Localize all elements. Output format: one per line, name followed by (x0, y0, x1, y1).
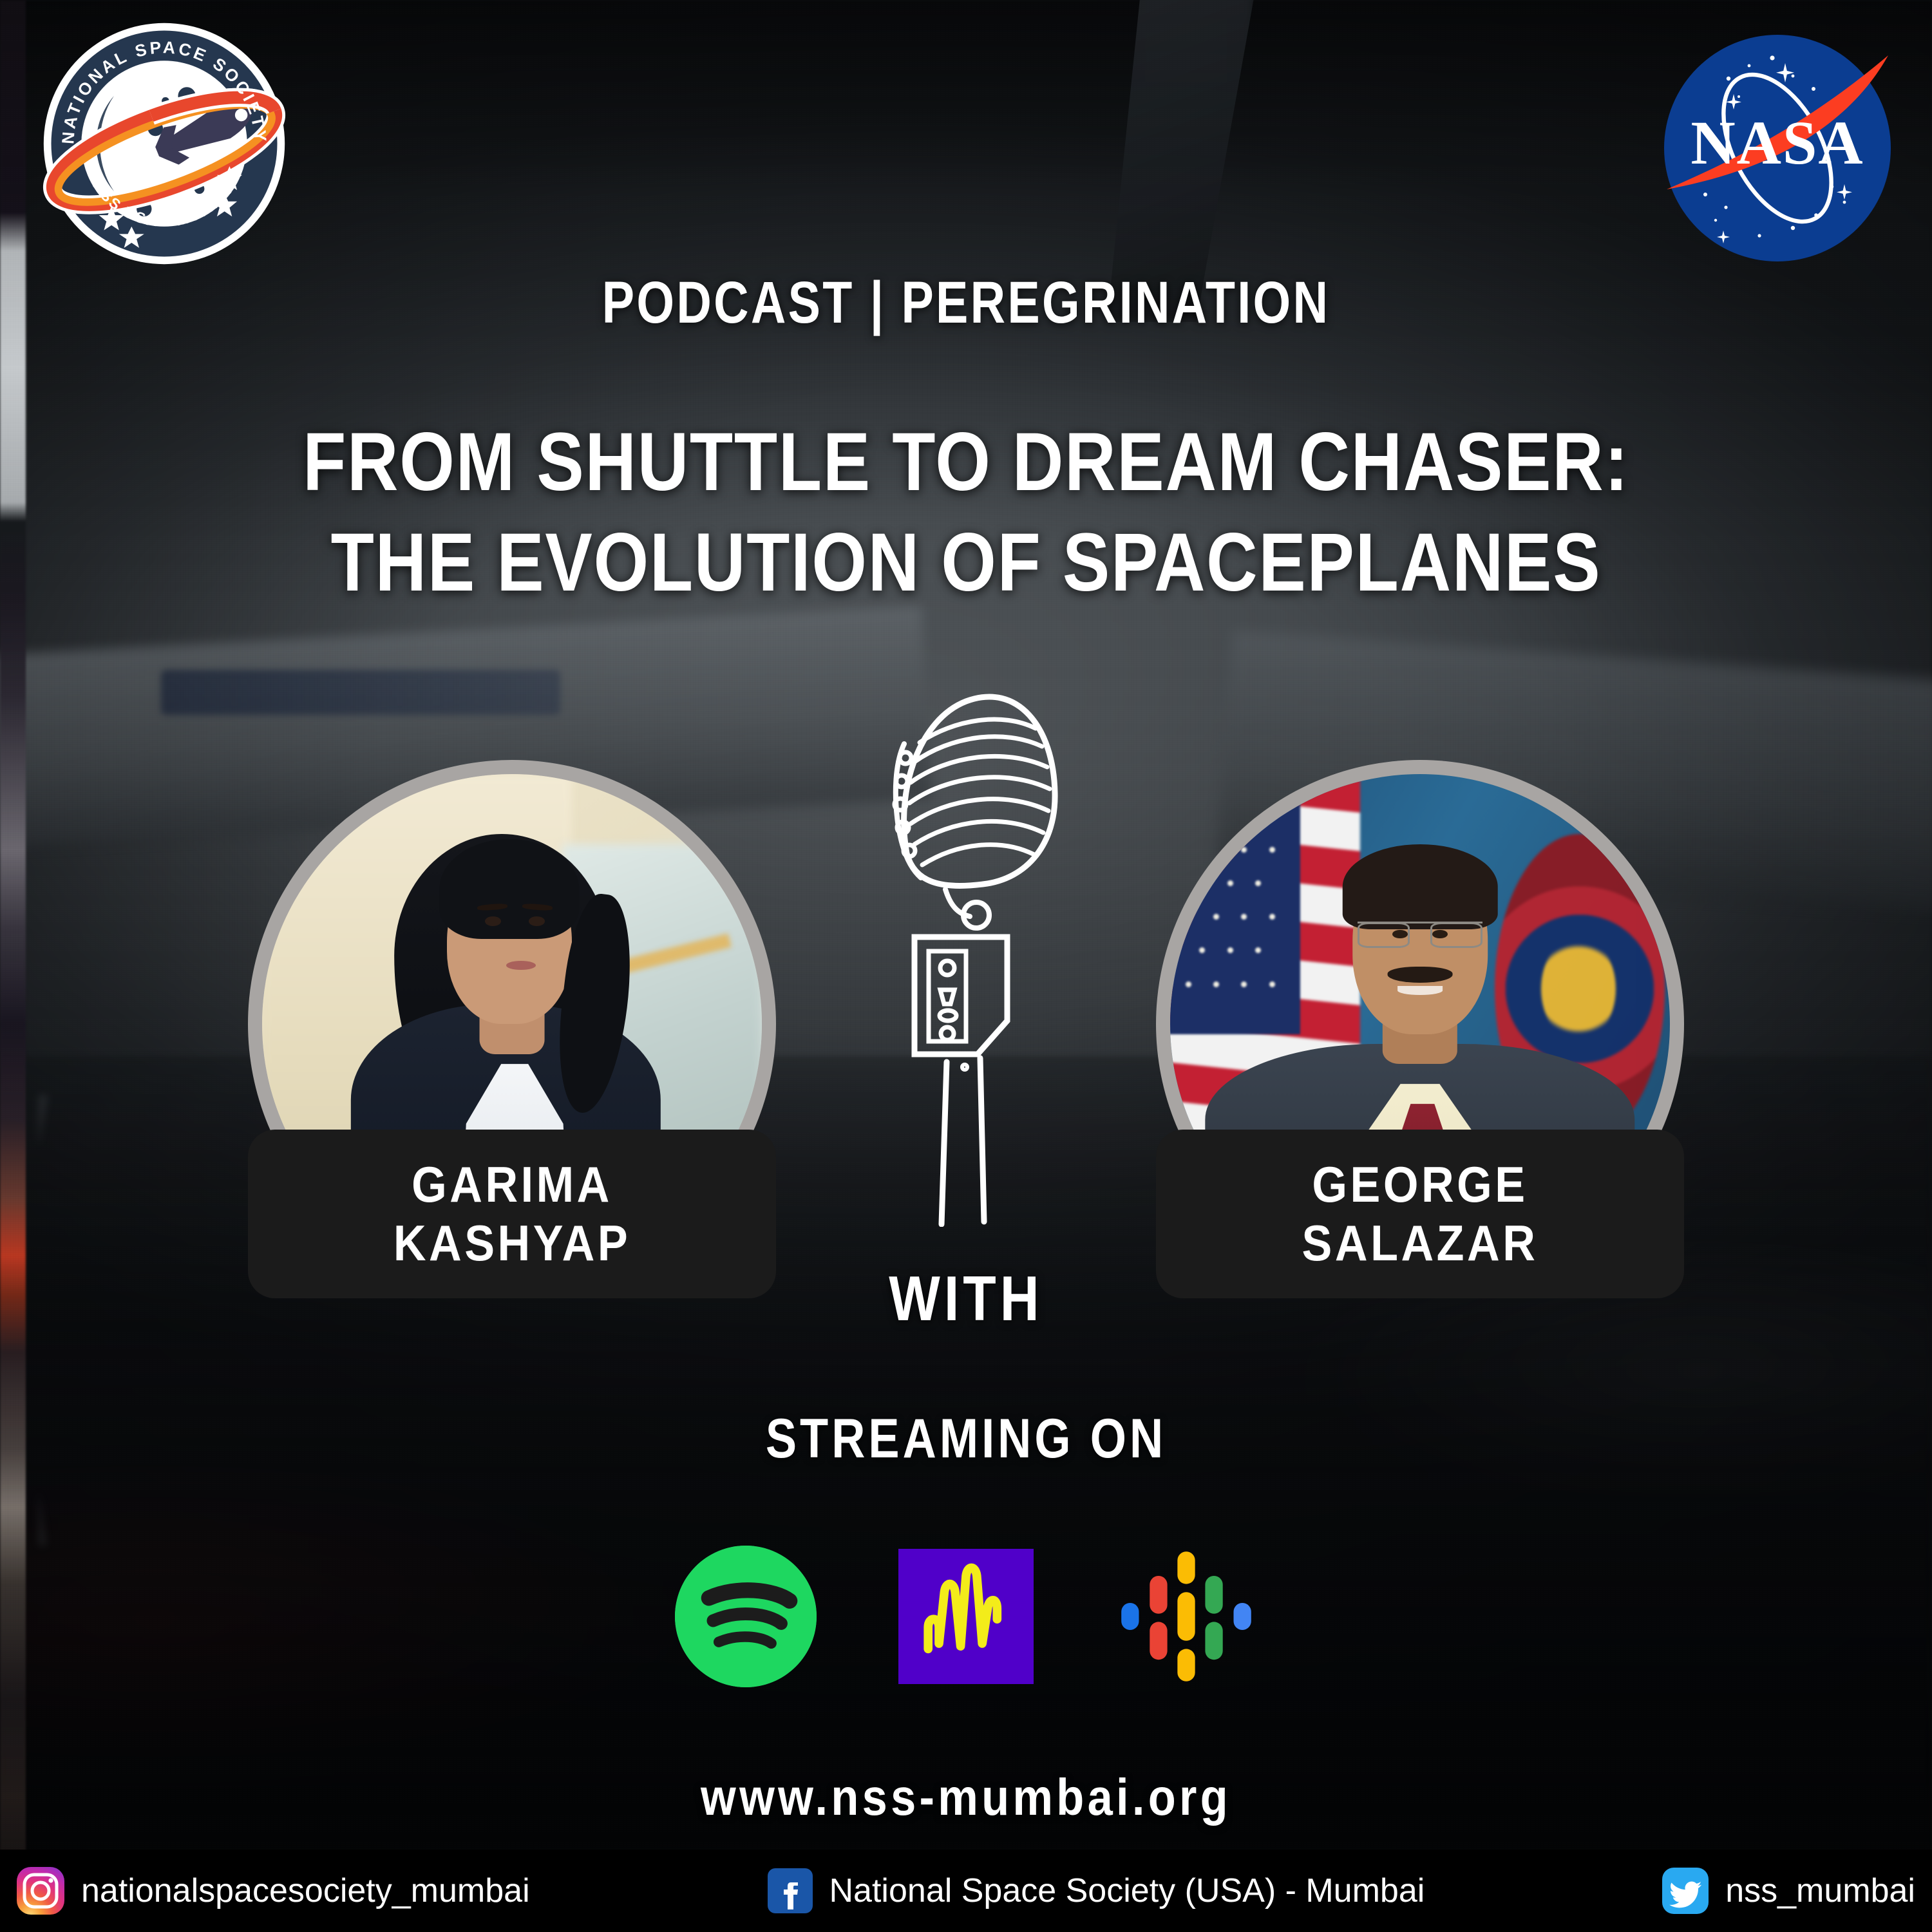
anchor-icon (898, 1549, 1034, 1684)
page-title: FROM SHUTTLE TO DREAM CHASER: THE EVOLUT… (135, 412, 1797, 613)
twitter-icon (1662, 1868, 1709, 1914)
streaming-platforms (0, 1542, 1932, 1690)
platform-anchor[interactable] (892, 1542, 1040, 1690)
with-connector-label: WITH (889, 1262, 1043, 1335)
podcast-kicker: PODCAST | PEREGRINATION (174, 269, 1758, 337)
streaming-on-label: STREAMING ON (155, 1407, 1777, 1471)
social-twitter[interactable]: nss_mumbai (1662, 1868, 1915, 1914)
google-podcasts-icon (1119, 1549, 1254, 1684)
twitter-handle: nss_mumbai (1725, 1871, 1915, 1910)
platform-spotify[interactable] (672, 1542, 820, 1690)
nss-mumbai-logo: NATIONAL SPACE SOCIETY NSS USA - MUMBAI (39, 18, 290, 269)
facebook-icon (768, 1868, 813, 1913)
platform-google-podcasts[interactable] (1112, 1542, 1260, 1690)
title-line-2: THE EVOLUTION OF SPACEPLANES (135, 513, 1797, 613)
instagram-handle: nationalspacesociety_mumbai (81, 1871, 530, 1910)
social-instagram[interactable]: nationalspacesociety_mumbai (17, 1867, 530, 1915)
facebook-handle: National Space Society (USA) - Mumbai (829, 1871, 1425, 1910)
nasa-logo: NASA (1649, 19, 1906, 277)
microphone-icon (869, 660, 1063, 1227)
host-name: GARIMA KASHYAP (305, 1155, 719, 1273)
speaker-host: GARIMA KASHYAP (222, 760, 802, 1288)
host-name-badge: GARIMA KASHYAP (248, 1130, 776, 1298)
speakers-row: GARIMA KASHYAP (0, 760, 1932, 1372)
instagram-icon (17, 1867, 64, 1915)
nasa-wordmark: NASA (1690, 108, 1864, 177)
social-footer-bar: nationalspacesociety_mumbai National Spa… (0, 1850, 1932, 1932)
website-url[interactable]: www.nss-mumbai.org (116, 1768, 1816, 1827)
speaker-guest: GEORGE SALAZAR (1130, 760, 1710, 1288)
title-line-1: FROM SHUTTLE TO DREAM CHASER: (303, 416, 1629, 508)
guest-name: GEORGE SALAZAR (1213, 1155, 1627, 1273)
podcast-promo-poster: NATIONAL SPACE SOCIETY NSS USA - MUMBAI (0, 0, 1932, 1932)
spotify-icon (675, 1546, 817, 1687)
social-facebook[interactable]: National Space Society (USA) - Mumbai (768, 1868, 1425, 1913)
guest-name-badge: GEORGE SALAZAR (1156, 1130, 1684, 1298)
